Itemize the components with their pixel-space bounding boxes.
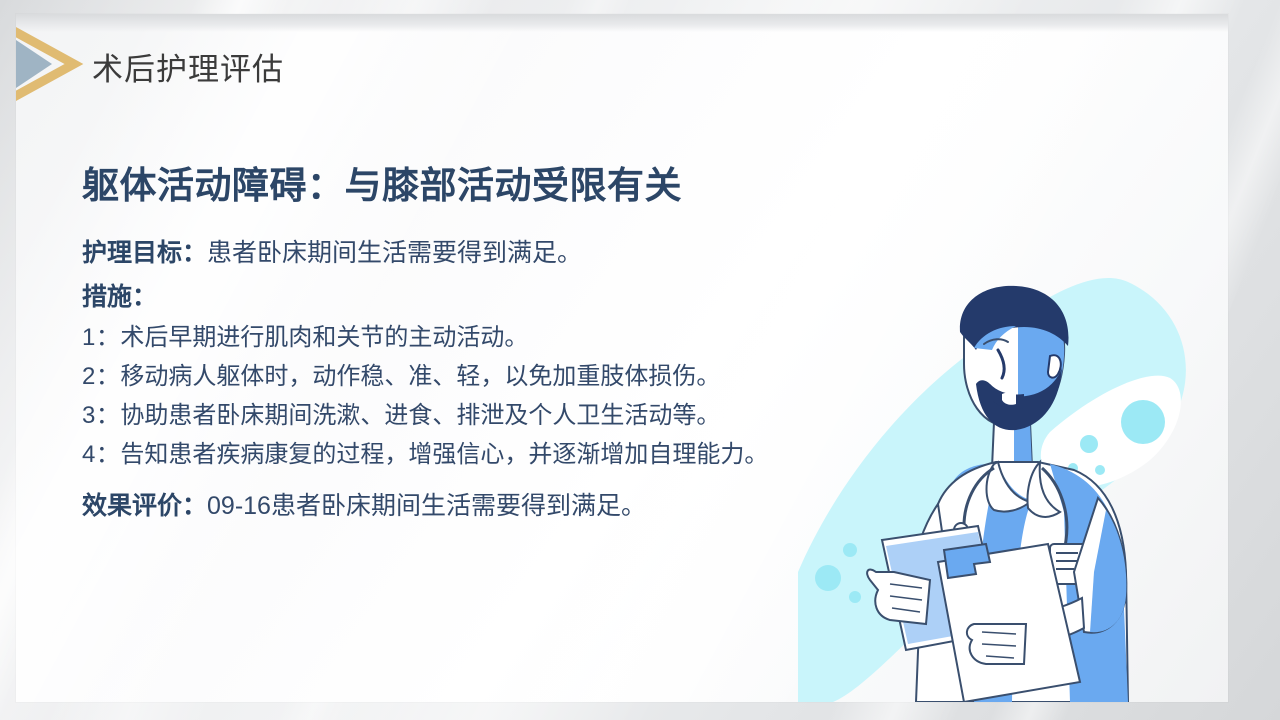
measure-number: 4： [82,441,120,468]
decor-circle [1121,400,1165,444]
measure-item: 3：协助患者卧床期间洗漱、进食、排泄及个人卫生活动等。 [82,397,902,436]
measure-text: 协助患者卧床期间洗漱、进食、排泄及个人卫生活动等。 [120,402,720,429]
nursing-goal-label: 护理目标： [82,239,207,267]
doctor-hand-right [967,624,1026,664]
nursing-goal-row: 护理目标：患者卧床期间生活需要得到满足。 [82,234,902,273]
header-band [16,14,1228,32]
diagnosis-title: 躯体活动障碍：与膝部活动受限有关 [82,164,902,208]
measure-item: 1：术后早期进行肌肉和关节的主动活动。 [82,319,902,358]
content-body: 躯体活动障碍：与膝部活动受限有关 护理目标：患者卧床期间生活需要得到满足。 措施… [82,164,902,529]
decor-circle [849,591,861,603]
nursing-goal-text: 患者卧床期间生活需要得到满足。 [207,239,582,267]
evaluation-text: 09-16患者卧床期间生活需要得到满足。 [207,492,646,520]
chevron-arrow-logo-icon [16,26,90,102]
measure-text: 告知患者疾病康复的过程，增强信心，并逐渐增加自理能力。 [120,441,768,468]
evaluation-label: 效果评价： [82,492,207,520]
slide-canvas: 术后护理评估 躯体活动障碍：与膝部活动受限有关 护理目标：患者卧床期间生活需要得… [0,0,1280,720]
measure-text: 移动病人躯体时，动作稳、准、轻，以免加重肢体损伤。 [120,363,720,390]
decor-circle [1080,435,1098,453]
measures-label: 措施： [82,277,902,313]
measure-number: 3： [82,402,120,429]
decor-circle [843,543,857,557]
measure-number: 2： [82,363,120,390]
measure-text: 术后早期进行肌肉和关节的主动活动。 [120,324,528,351]
evaluation-row: 效果评价：09-16患者卧床期间生活需要得到满足。 [82,487,902,526]
measure-item: 4：告知患者疾病康复的过程，增强信心，并逐渐增加自理能力。 [82,436,902,475]
page-title: 术后护理评估 [92,44,284,89]
measure-number: 1： [82,324,120,351]
decor-circle [1095,465,1105,475]
content-panel: 术后护理评估 躯体活动障碍：与膝部活动受限有关 护理目标：患者卧床期间生活需要得… [16,14,1228,702]
decor-circle [815,565,841,591]
measure-item: 2：移动病人躯体时，动作稳、准、轻，以免加重肢体损伤。 [82,358,902,397]
doctor-ear [1048,355,1061,377]
